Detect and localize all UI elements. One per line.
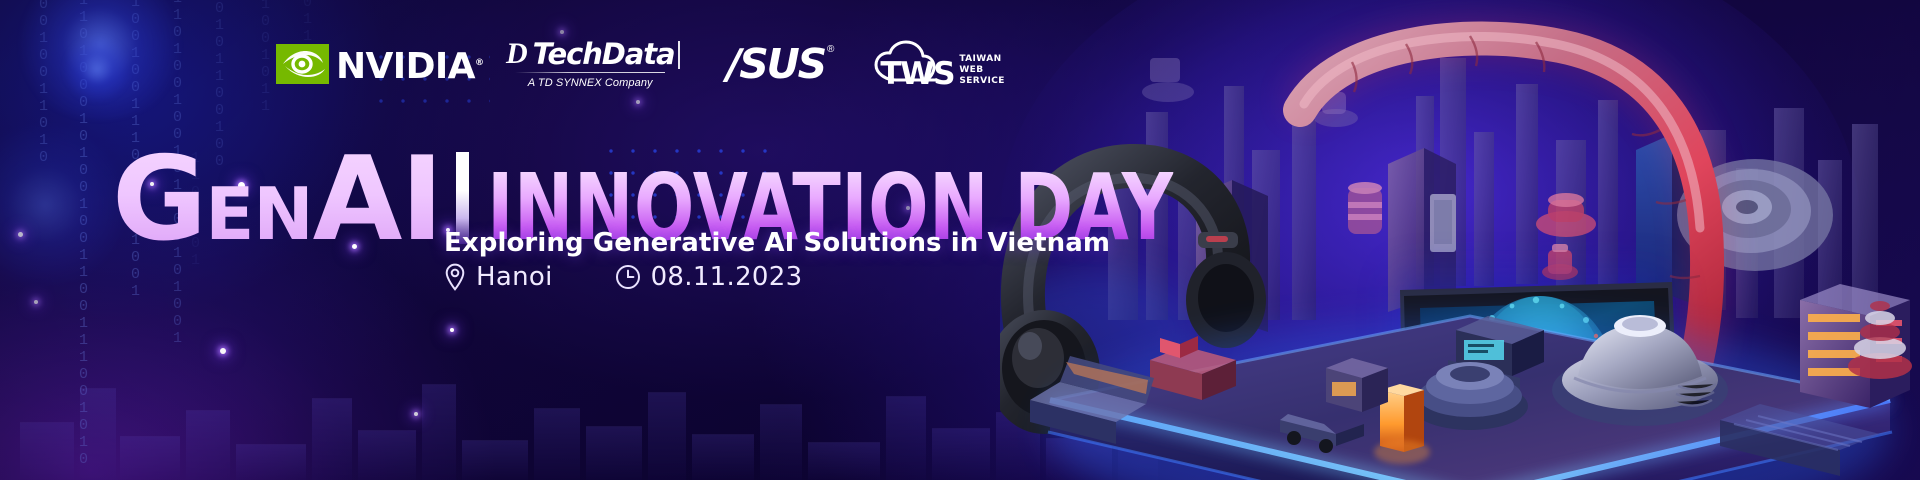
asus-trademark-icon: ® [827,44,834,55]
headline-brand-ai: AI [313,150,442,250]
headline-brand-en: EN [205,178,312,250]
tech-data-d-mark-icon: D [506,39,527,69]
sparkle-star [450,328,454,332]
subtitle: Exploring Generative AI Solutions in Vie… [444,228,1110,258]
binary-column: 1001011 [258,0,273,115]
tech-data-tagline: A TD SYNNEX Company [528,77,653,89]
logo-tws[interactable]: TWS TAIWAN WEB SERVICE [866,40,1004,88]
nvidia-trademark-icon: ® [475,58,484,68]
tws-tagline: TAIWAN WEB SERVICE [959,54,1004,88]
tws-wordmark: TWS [880,59,954,90]
logo-asus[interactable]: /SUS ® [726,44,834,84]
clock-icon [615,264,641,290]
blue-glow [0,120,130,290]
tws-tagline-line1: TAIWAN [959,54,1004,65]
headline-brand: GENAI [112,150,442,250]
tws-tagline-line2: WEB [959,65,1004,76]
tech-data-wordmark: TechData [533,39,675,69]
logo-nvidia[interactable]: NVIDIA® [276,44,484,84]
binary-column: 0101100100 [212,0,227,170]
nvidia-eye-icon [276,44,329,84]
nvidia-wordmark: NVIDIA® [336,46,484,84]
event-date: 08.11.2023 [615,262,803,292]
tech-data-rule [515,72,665,73]
event-location: Hanoi [444,262,553,292]
event-meta-row: Hanoi 08.11.2023 [444,262,802,292]
sparkle-star [636,100,640,104]
sparkle-star [220,348,226,354]
nvidia-word-rest: VIDIA [366,46,475,87]
tech-data-bar-icon [678,41,680,69]
nvidia-word-n: N [336,46,366,87]
asus-wordmark: /SUS [726,44,825,84]
location-pin-icon [444,263,466,291]
tws-tagline-line3: SERVICE [959,76,1004,87]
partner-logo-row: NVIDIA® D TechData A TD SYNNEX Company /… [276,38,1005,90]
sparkle-star [414,412,418,416]
event-location-label: Hanoi [476,262,553,292]
logo-tech-data[interactable]: D TechData A TD SYNNEX Company [506,39,675,89]
blue-glow [62,34,132,104]
sparkle-star [560,30,564,34]
sparkle-star [18,232,23,237]
sparkle-star [34,300,38,304]
event-date-label: 08.11.2023 [651,262,803,292]
event-banner: 0010011010 1101000101001001100111001010 … [0,0,1920,480]
headline-brand-g: G [112,150,205,250]
